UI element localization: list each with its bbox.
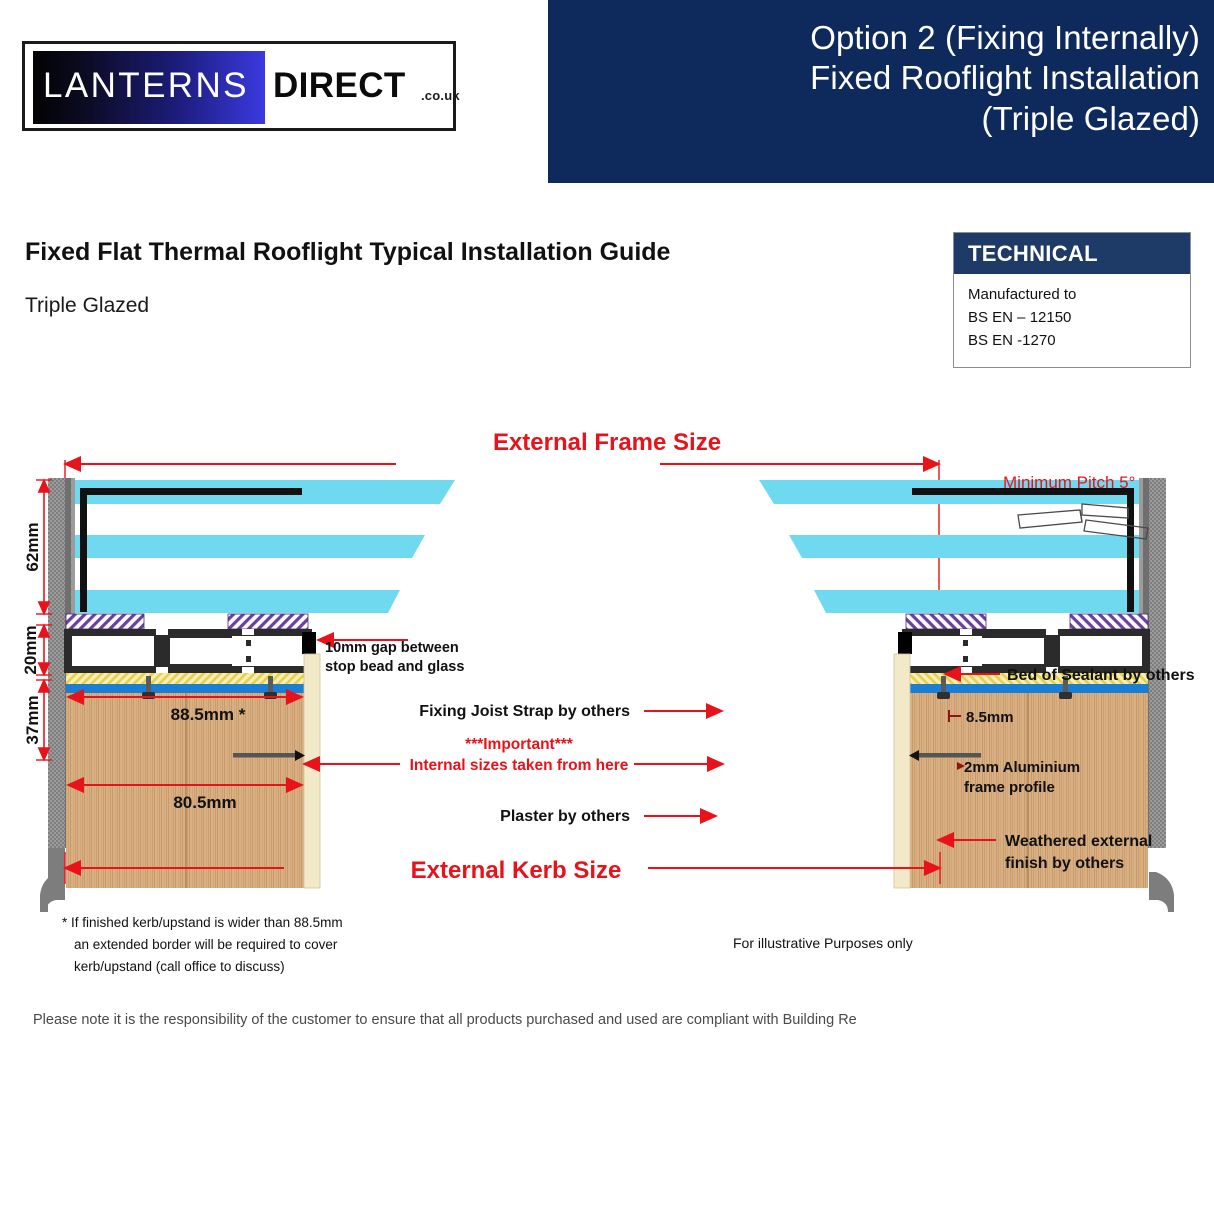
illustrative-note: For illustrative Purposes only [733, 935, 913, 951]
asterisk-footnote-line-1: * If finished kerb/upstand is wider than… [62, 912, 343, 934]
callout-aluminium-frame-line-2: frame profile [964, 779, 1055, 796]
logo-domain-suffix: .co.uk [421, 88, 460, 103]
technical-box-body: Manufactured to BS EN – 12150 BS EN -127… [954, 274, 1190, 352]
technical-box-heading: TECHNICAL [954, 233, 1190, 274]
callout-8-5mm: 8.5mm [966, 709, 1014, 726]
dimension-20mm: 20mm [21, 625, 40, 674]
technical-box: TECHNICAL Manufactured to BS EN – 12150 … [953, 232, 1191, 368]
callout-weathered-finish-line-1: Weathered external [1005, 833, 1152, 850]
callout-bed-of-sealant: Bed of Sealant by others [1007, 667, 1195, 684]
installation-cross-section-diagram: External Frame Size [0, 400, 1214, 960]
glass-pane-inner [75, 590, 400, 613]
technical-line-1: Manufactured to [968, 284, 1190, 307]
minimum-pitch-label: Minimum Pitch 5° [1003, 473, 1135, 492]
header-title-line-2: Fixed Rooflight Installation [560, 58, 1200, 98]
logo-brand-secondary: DIRECT [273, 66, 406, 106]
compliance-disclaimer: Please note it is the responsibility of … [33, 1012, 857, 1028]
callout-weathered-finish-line-2: finish by others [1005, 855, 1124, 872]
dimension-88-5mm: 88.5mm * [171, 705, 246, 724]
callout-aluminium-frame-line-1: 2mm Aluminium [964, 759, 1080, 776]
asterisk-footnote-line-3: kerb/upstand (call office to discuss) [62, 956, 343, 978]
callout-important-line-1: ***Important*** [465, 736, 574, 753]
header-title-line-3: (Triple Glazed) [560, 99, 1200, 139]
dimension-80-5mm: 80.5mm [173, 793, 236, 812]
header-title-line-1: Option 2 (Fixing Internally) [560, 18, 1200, 58]
callout-stop-bead-line-2: stop bead and glass [325, 659, 464, 675]
asterisk-footnote-line-2: an extended border will be required to c… [62, 934, 343, 956]
external-kerb-size-label: External Kerb Size [411, 857, 622, 884]
technical-line-2: BS EN – 12150 [968, 307, 1190, 330]
external-frame-size-label: External Frame Size [493, 429, 721, 456]
dimension-62mm: 62mm [23, 522, 42, 571]
glass-pane-middle [75, 535, 425, 558]
header-title: Option 2 (Fixing Internally) Fixed Roofl… [560, 18, 1200, 139]
callout-stop-bead-line-1: 10mm gap between [325, 640, 459, 656]
page-title: Fixed Flat Thermal Rooflight Typical Ins… [25, 238, 670, 267]
page-subtitle: Triple Glazed [25, 294, 149, 318]
callout-fixing-joist-strap: Fixing Joist Strap by others [419, 703, 630, 720]
callout-important-line-2: Internal sizes taken from here [410, 757, 629, 774]
left-section: 62mm 20mm 37mm 88.5mm * 80.5mm [21, 478, 455, 912]
dimension-37mm: 37mm [23, 695, 42, 744]
technical-line-3: BS EN -1270 [968, 330, 1190, 353]
aluminium-frame-profile-left [64, 629, 312, 673]
company-logo: LANTERNS DIRECT .co.uk [22, 41, 456, 131]
asterisk-footnote: * If finished kerb/upstand is wider than… [62, 912, 343, 978]
callout-plaster: Plaster by others [500, 808, 630, 825]
logo-brand-primary: LANTERNS [43, 66, 249, 106]
